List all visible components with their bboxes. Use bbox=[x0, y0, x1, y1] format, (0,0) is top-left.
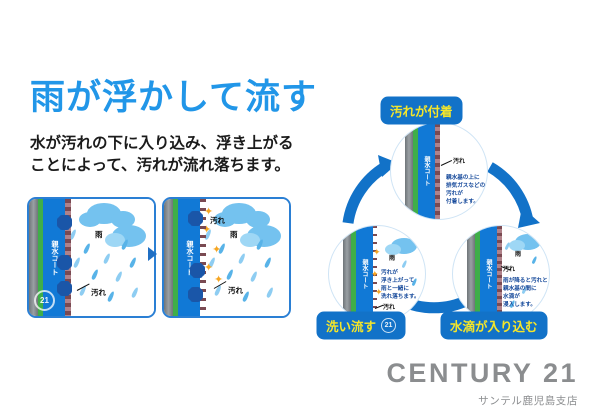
banner-label: 水滴が入り込む bbox=[450, 316, 538, 335]
raindrop-icon bbox=[131, 287, 139, 299]
dirt-label-top: 汚れ bbox=[210, 215, 225, 226]
cycle-step-washaway: 親水コート 雨 ✦ ✦ ✦ 汚れが 浮き上がって 雨と一緒に 洗れ落ちます。 汚… bbox=[328, 225, 426, 323]
step-body-line: 親水基の間に bbox=[503, 286, 537, 293]
raindrop-icon bbox=[115, 271, 123, 283]
rain-label: 雨 bbox=[95, 229, 103, 240]
substrate-layer bbox=[405, 123, 413, 219]
banner-label: 汚れが付着 bbox=[390, 101, 453, 120]
cloud-icon bbox=[385, 244, 401, 255]
dirt-particle-icon bbox=[59, 283, 70, 294]
dirt-layer bbox=[435, 123, 440, 219]
step-body-line: 汚れが bbox=[446, 191, 463, 198]
sparkle-icon: ✦ bbox=[371, 270, 379, 279]
cycle-diagram: 親水コート 汚れ 親水基の上に 排気ガスなどの 汚れが 付着します。 汚れが付着… bbox=[290, 95, 590, 335]
cycle-banner-penetrate: 水滴が入り込む bbox=[442, 313, 546, 338]
dirt-label: 汚れ bbox=[228, 285, 243, 296]
raindrop-icon bbox=[238, 253, 246, 265]
raindrop-icon bbox=[266, 287, 274, 299]
page-subtitle: 水が汚れの下に入り込み、浮き上がる ことによって、汚れが流れ落ちます。 bbox=[30, 133, 294, 178]
step-body-line: 洗れ落ちます。 bbox=[381, 294, 420, 301]
substrate-layer bbox=[164, 199, 173, 316]
dirt-particle-icon bbox=[192, 265, 203, 276]
raindrop-icon bbox=[242, 291, 250, 303]
raindrop-icon bbox=[401, 260, 407, 269]
page-title: 雨が浮かして流す bbox=[30, 79, 317, 118]
dirt-callout: 汚れ bbox=[503, 267, 515, 275]
sparkle-icon: ✦ bbox=[373, 248, 381, 257]
cycle-step-adhere: 親水コート 汚れ 親水基の上に 排気ガスなどの 汚れが 付着します。 bbox=[390, 122, 488, 220]
raindrop-icon bbox=[129, 257, 137, 269]
cycle-banner-washaway: 洗い流す 21 bbox=[318, 313, 404, 338]
rain-label: 雨 bbox=[515, 252, 521, 260]
raindrop-icon bbox=[531, 256, 537, 265]
century21-logo: CENTURY 21 サンテル鹿児島支店 bbox=[386, 358, 578, 408]
step-body-line: 浮き上がって bbox=[381, 278, 414, 285]
leader-line bbox=[441, 160, 452, 166]
coat-label: 親水コート bbox=[360, 259, 369, 289]
step-body-line: 雨と一緒に bbox=[381, 286, 409, 293]
raindrop-icon bbox=[103, 253, 111, 265]
wall-cross-section: 親水コート bbox=[405, 123, 435, 219]
arrow-path-left-to-top bbox=[348, 167, 385, 223]
raindrop-icon bbox=[226, 269, 234, 281]
dirt-callout: 汚れ bbox=[453, 159, 465, 167]
raindrop-icon bbox=[250, 271, 258, 283]
raindrop-icon bbox=[107, 291, 115, 303]
slide-canvas: 雨が浮かして流す 水が汚れの下に入り込み、浮き上がる ことによって、汚れが流れ落… bbox=[0, 0, 600, 416]
panel-after: 雨 ✦ ✦ ✦ ✦ 汚れ 親水コート bbox=[162, 197, 291, 318]
logo-branch-name: サンテル鹿児島支店 bbox=[386, 393, 578, 408]
coat-label: 親水コート bbox=[484, 259, 493, 289]
subtitle-line-1: 水が汚れの下に入り込み、浮き上がる bbox=[30, 133, 294, 155]
cycle-banner-adhere: 汚れが付着 bbox=[382, 98, 461, 123]
dirt-label: 汚れ bbox=[91, 287, 106, 298]
sparkle-icon: ✦ bbox=[212, 245, 221, 256]
substrate-layer bbox=[467, 226, 475, 322]
dirt-particle-icon bbox=[59, 217, 70, 228]
step-body-line: 排気ガスなどの bbox=[446, 183, 485, 190]
hydrophilic-coat-layer: 親水コート bbox=[480, 226, 497, 322]
step-body-line: 付着します。 bbox=[446, 199, 479, 206]
raindrop-icon bbox=[264, 257, 272, 269]
step-body-line: 水滴が bbox=[503, 294, 520, 301]
step-body-line: 親水基の上に bbox=[446, 175, 480, 182]
rain-label: 雨 bbox=[230, 229, 238, 240]
raindrop-icon bbox=[83, 243, 91, 255]
step-body-line: 雨が降ると汚れと bbox=[503, 278, 548, 285]
raindrop-icon bbox=[91, 269, 99, 281]
cloud-icon bbox=[509, 240, 525, 251]
dirt-layer bbox=[497, 226, 502, 322]
coat-label: 親水コート bbox=[49, 240, 59, 275]
c21-watermark-badge: 21 bbox=[34, 290, 55, 311]
panel-before: 雨 汚れ 親水コート 21 bbox=[27, 197, 156, 318]
flow-arrow-icon bbox=[148, 247, 157, 261]
panel-before-sky: 雨 汚れ bbox=[65, 199, 154, 316]
rain-label: 雨 bbox=[389, 256, 395, 264]
cycle-step-penetrate: 親水コート 雨 汚れ 雨が降ると汚れと 親水基の間に 水滴が 浸入します。 bbox=[452, 225, 550, 323]
cloud-icon bbox=[79, 212, 101, 227]
step-body-line: 汚れが bbox=[381, 270, 398, 277]
coat-label: 親水コート bbox=[422, 156, 431, 186]
c21-badge: 21 bbox=[381, 318, 396, 333]
subtitle-line-2: ことによって、汚れが流れ落ちます。 bbox=[30, 155, 294, 177]
step-body-line: 浸入します。 bbox=[503, 302, 536, 309]
banner-label: 洗い流す bbox=[326, 316, 376, 335]
dirt-callout: 汚れ bbox=[383, 305, 395, 313]
wall-cross-section: 親水コート bbox=[467, 226, 497, 322]
wall-cross-section: 親水コート bbox=[343, 226, 373, 322]
dirt-particle-icon bbox=[190, 289, 201, 300]
dirt-particle-icon bbox=[190, 213, 201, 224]
hydrophilic-coat-layer: 親水コート bbox=[418, 123, 435, 219]
substrate-layer bbox=[343, 226, 351, 322]
raindrop-icon bbox=[73, 257, 81, 269]
logo-wordmark: CENTURY 21 bbox=[386, 358, 578, 389]
dirt-particle-icon bbox=[59, 257, 70, 268]
